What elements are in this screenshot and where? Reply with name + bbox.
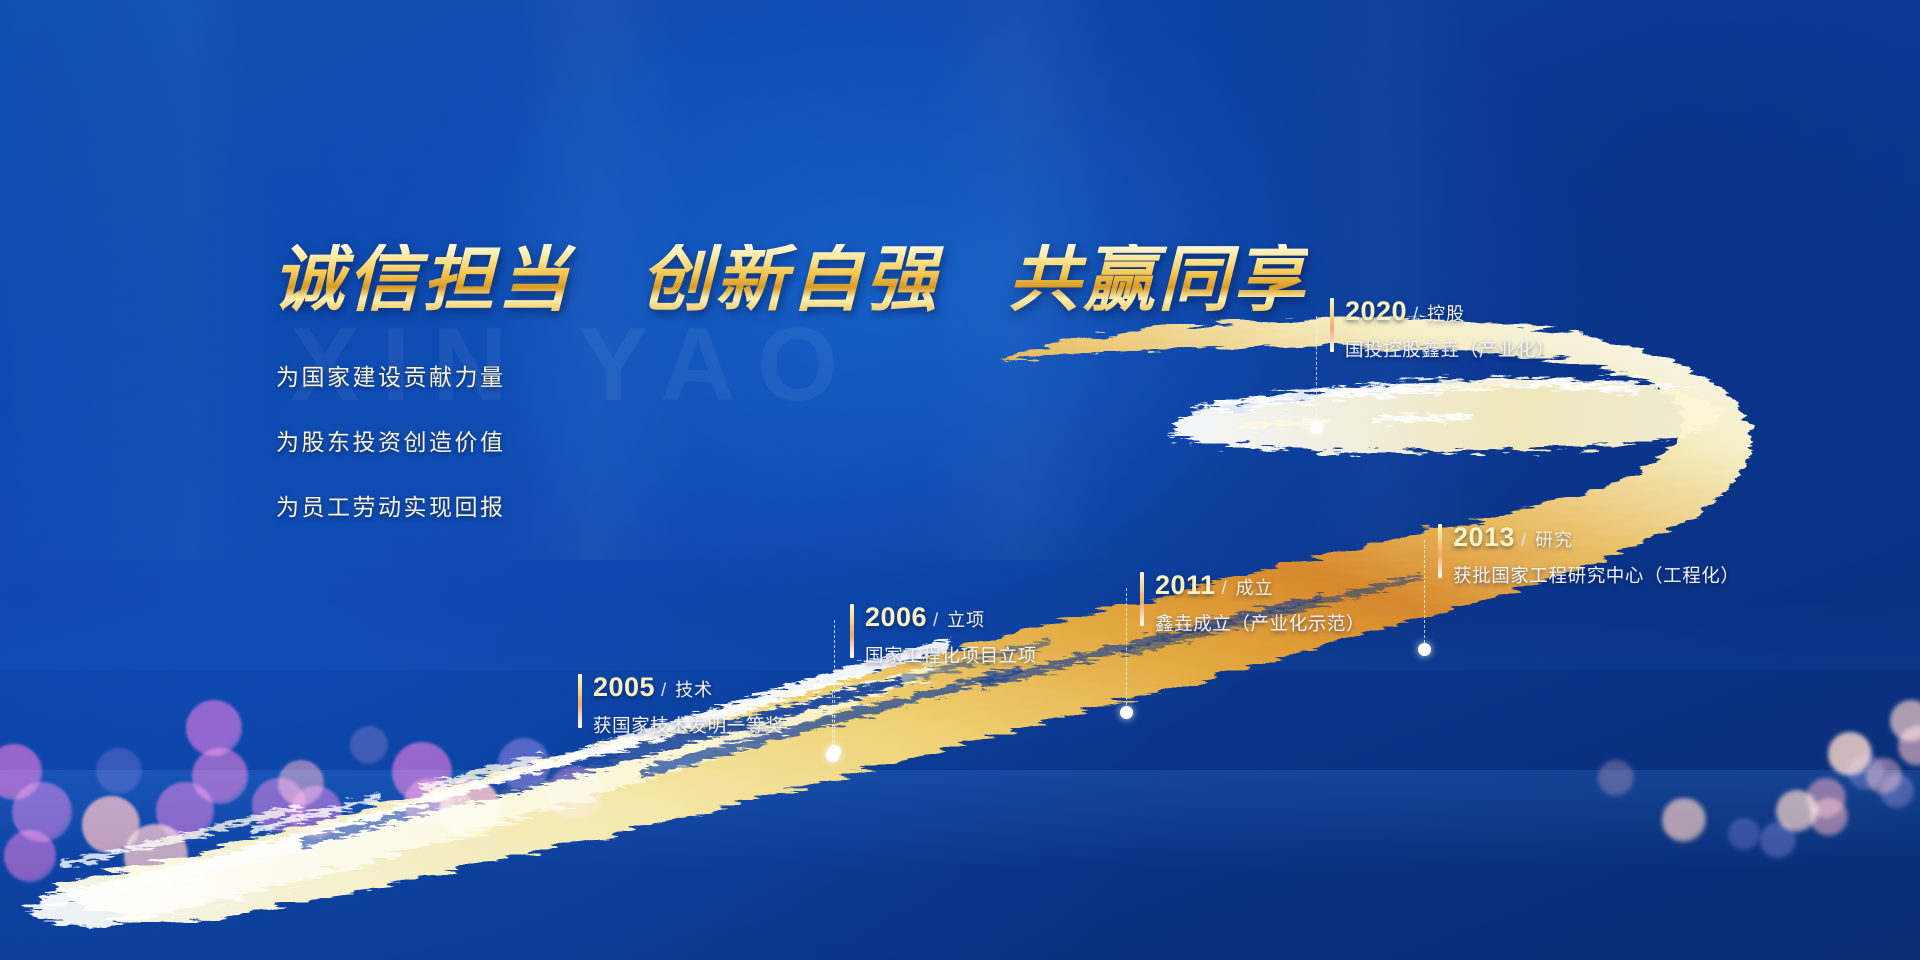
timeline-accent-bar (850, 604, 854, 658)
timeline-point-marker (1120, 706, 1133, 719)
timeline-description: 获批国家工程研究中心（工程化） (1453, 562, 1740, 588)
hero-headline: 诚信担当 创新自强 共赢同享 (272, 244, 1308, 316)
hero-subtitle-1: 为国家建设贡献力量 (276, 358, 506, 392)
bokeh-circle (498, 738, 550, 790)
timeline-year: 2020 (1345, 296, 1407, 327)
bokeh-circle (440, 778, 500, 838)
timeline-separator: / (1521, 530, 1526, 551)
timeline-tag: 技术 (675, 676, 713, 702)
timeline-heading: 2020/控股 (1345, 296, 1555, 327)
timeline-accent-bar (1438, 524, 1442, 578)
timeline-description: 国家工程化项目立项 (865, 642, 1037, 668)
bokeh-circle (156, 782, 214, 840)
timeline-tag: 控股 (1427, 300, 1465, 326)
hero-subtitle-list: 为国家建设贡献力量 为股东投资创造价值 为员工劳动实现回报 (276, 358, 506, 553)
timeline-heading: 2006/立项 (865, 602, 1037, 633)
bokeh-circle (278, 760, 324, 806)
headline-part-1: 诚信担当 (272, 240, 572, 320)
bokeh-circle (1866, 758, 1902, 794)
timeline-heading: 2011/成立 (1155, 570, 1365, 601)
timeline-accent-bar (1330, 298, 1334, 352)
timeline-tag: 立项 (947, 606, 985, 632)
bokeh-circle (1598, 760, 1634, 796)
bokeh-circle (252, 778, 306, 832)
headline-part-2: 创新自强 (640, 240, 940, 320)
timeline-label[interactable]: 2013/研究获批国家工程研究中心（工程化） (1438, 522, 1740, 588)
bokeh-circle (1810, 798, 1848, 836)
bokeh-circle (290, 786, 342, 838)
timeline-heading: 2005/技术 (593, 672, 784, 703)
timeline-separator: / (661, 680, 666, 701)
timeline-connector-line (832, 690, 833, 752)
bokeh-circle (1848, 754, 1884, 790)
banner-canvas: XIN YAO 诚信担当 创新自强 共赢同享 为国家建设贡献力量 为股东投资创造… (0, 0, 1920, 960)
bokeh-circle (1760, 822, 1796, 858)
bokeh-circle (1728, 818, 1760, 850)
timeline-year: 2013 (1453, 522, 1515, 553)
timeline-separator: / (1413, 304, 1418, 325)
timeline-tag: 成立 (1236, 574, 1274, 600)
bokeh-circle (404, 778, 454, 828)
hero-subtitle-3: 为员工劳动实现回报 (276, 488, 506, 522)
bokeh-circle (548, 766, 602, 820)
bokeh-circle (392, 742, 452, 802)
timeline-point-marker (1310, 421, 1323, 434)
bokeh-circle (1880, 774, 1914, 808)
timeline-label[interactable]: 2020/控股国投控股鑫垚（产业化） (1330, 296, 1555, 362)
bokeh-circle (4, 830, 56, 882)
bokeh-circle (1890, 700, 1920, 742)
bokeh-circle (96, 748, 142, 794)
timeline-point-marker (1418, 643, 1431, 656)
bokeh-circle (186, 700, 242, 756)
bokeh-circle (1806, 778, 1846, 818)
timeline-accent-bar (578, 674, 582, 728)
timeline-connector-line (1424, 540, 1425, 648)
timeline-separator: / (1222, 578, 1227, 599)
hero-subtitle-2: 为股东投资创造价值 (276, 423, 506, 457)
bokeh-circle (1828, 732, 1872, 776)
bokeh-circle (0, 744, 42, 800)
timeline-label[interactable]: 2006/立项国家工程化项目立项 (850, 602, 1037, 668)
bokeh-circle (192, 748, 248, 804)
background-band-lower (0, 770, 1920, 870)
timeline-description: 获国家技术发明一等奖 (593, 712, 784, 738)
headline-part-3: 共赢同享 (1008, 240, 1308, 320)
bokeh-circle (82, 796, 140, 854)
timeline-year: 2005 (593, 672, 655, 703)
bokeh-circle (1776, 790, 1818, 832)
timeline-label[interactable]: 2005/技术获国家技术发明一等奖 (578, 672, 784, 738)
timeline-heading: 2013/研究 (1453, 522, 1740, 553)
timeline-connector-line (1316, 316, 1317, 426)
bokeh-circle (12, 782, 72, 842)
timeline-label[interactable]: 2011/成立鑫垚成立（产业化示范） (1140, 570, 1365, 636)
timeline-year: 2006 (865, 602, 927, 633)
timeline-point-marker (828, 745, 841, 758)
timeline-connector-line (834, 620, 835, 748)
bokeh-circle (124, 824, 188, 888)
timeline-connector-line (1126, 588, 1127, 710)
hero-headline-block: XIN YAO 诚信担当 创新自强 共赢同享 (272, 244, 1308, 316)
timeline-description: 国投控股鑫垚（产业化） (1345, 336, 1555, 362)
bokeh-circle (1662, 798, 1706, 842)
timeline-description: 鑫垚成立（产业化示范） (1155, 610, 1365, 636)
bokeh-circle (1898, 726, 1920, 766)
timeline-year: 2011 (1155, 570, 1216, 601)
timeline-tag: 研究 (1535, 526, 1573, 552)
bokeh-circle (350, 726, 388, 764)
timeline-accent-bar (1140, 572, 1144, 626)
timeline-separator: / (933, 610, 938, 631)
